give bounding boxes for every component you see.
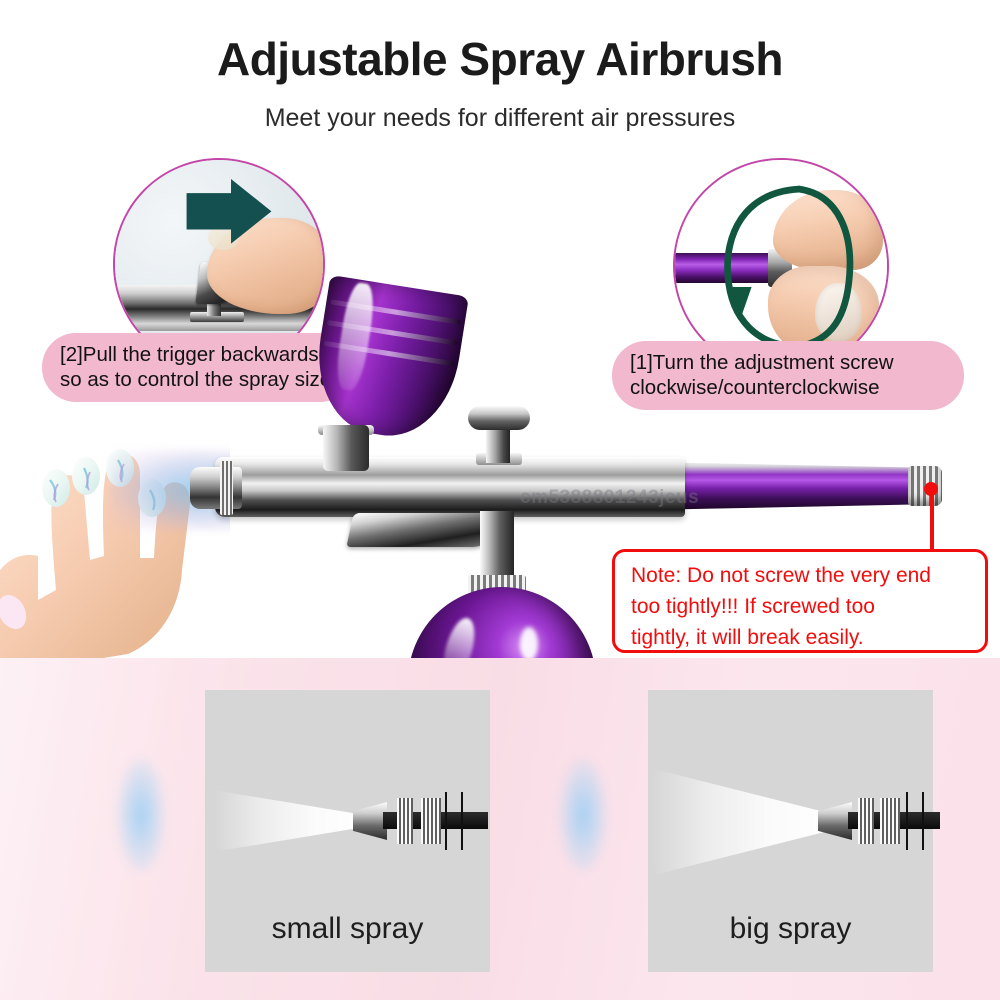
small-spray-nozzle (353, 798, 488, 844)
small-spray-mist (213, 790, 363, 852)
bottle-neck (480, 511, 514, 585)
press-arrow-icon (177, 177, 281, 248)
small-spray-panel: small spray (205, 690, 490, 972)
big-spray-panel: big spray (648, 690, 933, 972)
airbrush-tail (645, 462, 925, 510)
trigger-lever (346, 513, 498, 547)
blue-blob-right (560, 760, 606, 870)
paint-cup (307, 275, 469, 445)
nozzle-ring-big-2 (880, 798, 900, 844)
page-subtitle: Meet your needs for different air pressu… (0, 104, 1000, 133)
nozzle-ring-small-1 (397, 798, 413, 844)
spray-comparison-section: small spray big spray (0, 658, 1000, 1000)
nozzle-cone-small (353, 802, 387, 840)
air-knob-stem (486, 425, 510, 463)
bulb-highlight-2 (520, 627, 538, 661)
note-leader-line (930, 488, 934, 550)
nozzle-line-small-1 (445, 792, 447, 850)
page-title: Adjustable Spray Airbrush (0, 32, 1000, 86)
airbrush-body (215, 457, 685, 517)
nozzle-ring-big-1 (858, 798, 874, 844)
big-spray-nozzle (818, 798, 936, 844)
blue-blob-left (118, 760, 164, 870)
airbrush-nozzle (190, 467, 242, 509)
big-spray-label: big spray (648, 912, 933, 946)
big-spray-mist (650, 768, 830, 876)
nozzle-line-big-1 (906, 792, 908, 850)
warning-note: Note: Do not screw the very end too tigh… (612, 549, 988, 653)
small-spray-label: small spray (205, 912, 490, 946)
nozzle-knurl-ring (220, 461, 233, 515)
nozzle-ring-small-2 (421, 798, 441, 844)
nozzle-cone-big (818, 802, 852, 840)
paint-cup-stem (323, 425, 369, 471)
infographic-page: Adjustable Spray Airbrush Meet your need… (0, 0, 1000, 1000)
air-knob (468, 406, 530, 430)
nozzle-line-small-2 (461, 792, 463, 850)
nozzle-line-big-2 (922, 792, 924, 850)
